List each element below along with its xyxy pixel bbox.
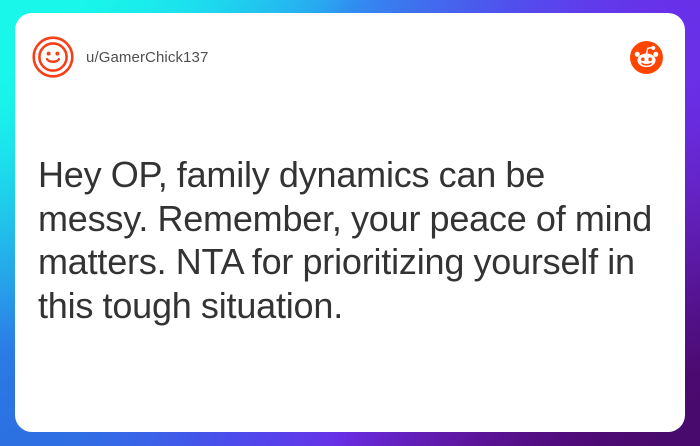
reddit-snoo-icon	[630, 41, 663, 74]
screenshot-root: u/GamerChick137 Hey OP, family dynamics …	[0, 0, 700, 446]
username-label: u/GamerChick137	[86, 49, 208, 66]
comment-body-text: Hey OP, family dynamics can be messy. Re…	[38, 153, 661, 327]
reddit-comment-card: u/GamerChick137 Hey OP, family dynamics …	[15, 13, 685, 432]
reddit-logo[interactable]	[630, 41, 663, 74]
card-header: u/GamerChick137	[15, 13, 685, 101]
avatar[interactable]	[32, 36, 74, 78]
smiley-face-avatar-icon	[32, 36, 74, 78]
